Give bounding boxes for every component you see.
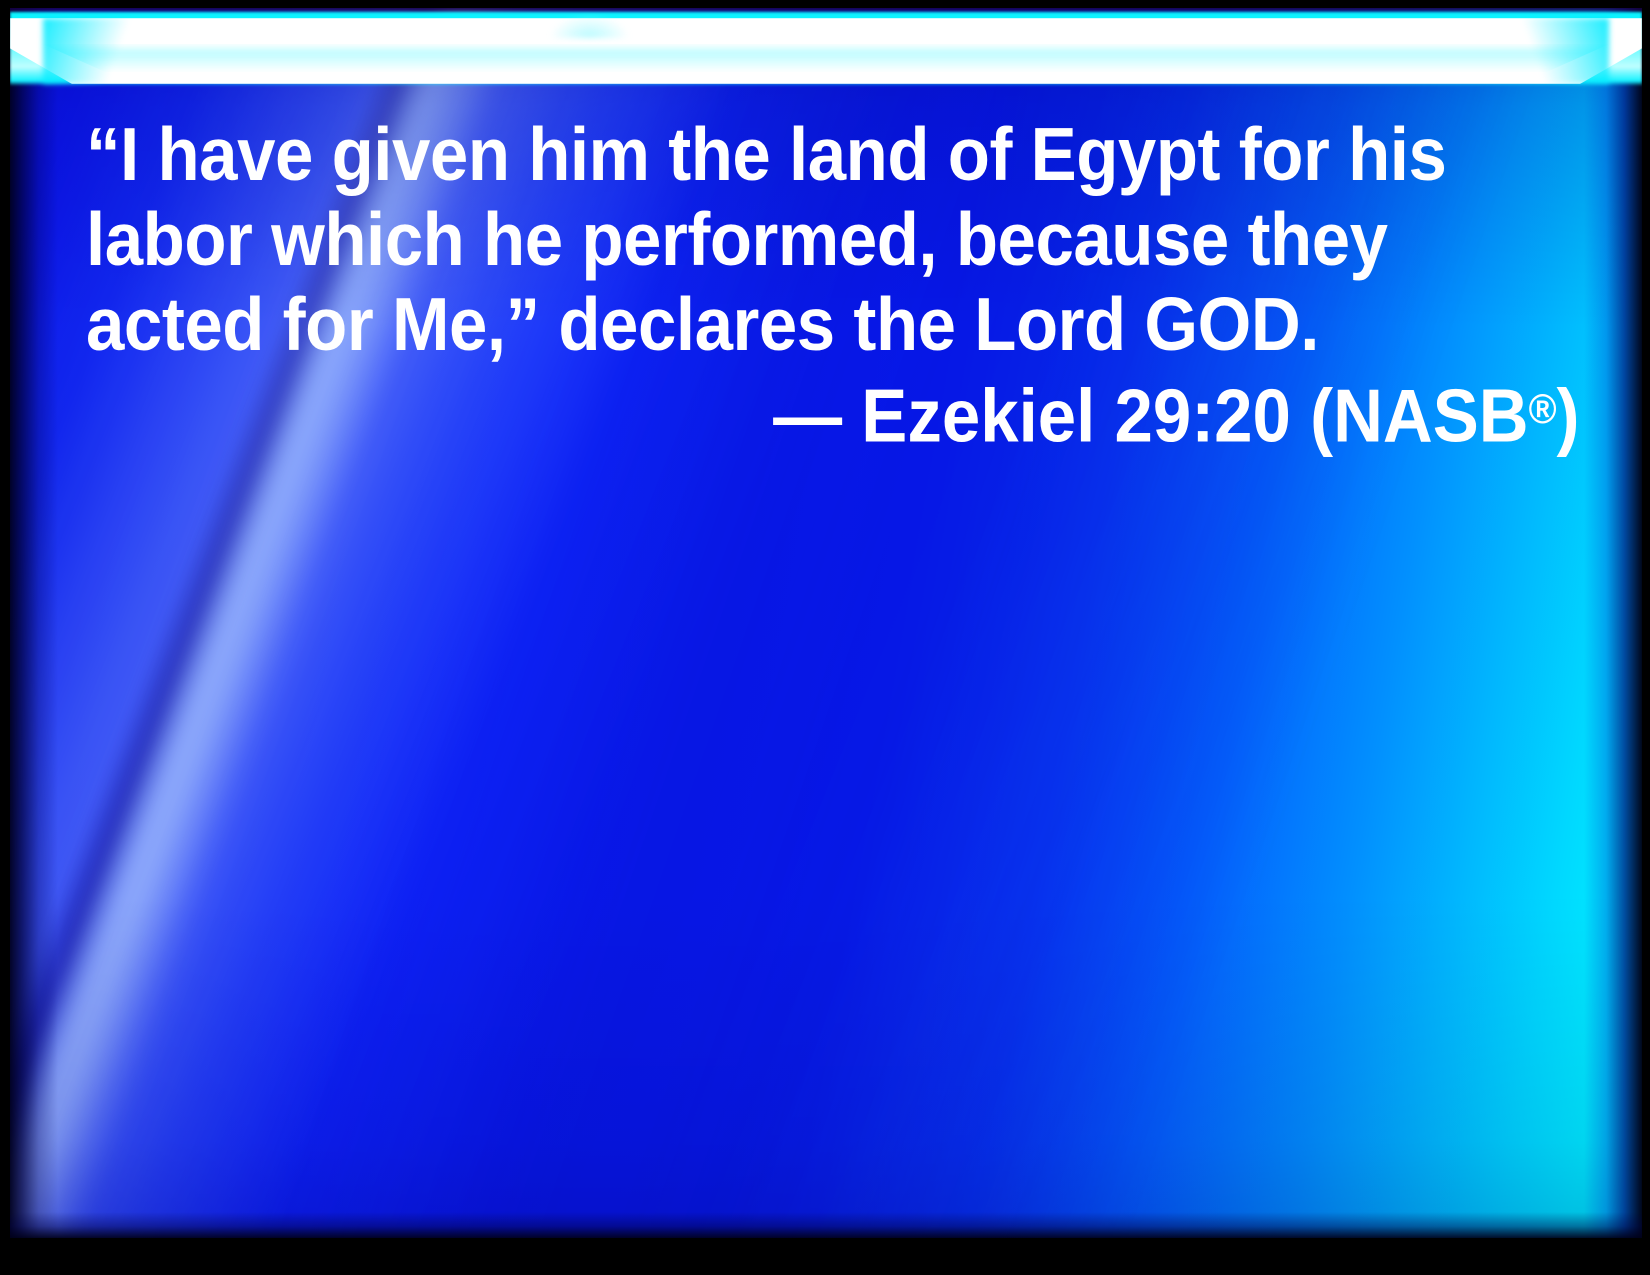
top-bar-left-glow (43, 18, 141, 84)
verse-citation-inner: — Ezekiel 29:20 (NASB®) (774, 367, 1580, 459)
slide-frame: “I have given him the land of Egypt for … (0, 0, 1650, 1275)
citation-suffix: ) (1557, 374, 1580, 458)
verse-citation: — Ezekiel 29:20 (NASB®) (86, 367, 1580, 459)
top-bar-inner-sheen (43, 44, 1610, 72)
verse-line-2: labor which he performed, because they (86, 197, 1457, 282)
edge-vignette-left (10, 8, 58, 1238)
top-bar-right-glow (1511, 18, 1609, 84)
verse-line-1: “I have given him the land of Egypt for … (86, 112, 1457, 197)
top-bar-notch (549, 14, 631, 38)
citation-prefix: — Ezekiel 29:20 (NASB (774, 374, 1529, 458)
slide-canvas: “I have given him the land of Egypt for … (10, 8, 1642, 1238)
edge-vignette-bottom (10, 1212, 1642, 1238)
edge-vignette-right (1584, 8, 1642, 1238)
verse-line-3: acted for Me,” declares the Lord GOD. (86, 282, 1457, 367)
registered-trademark-icon: ® (1529, 386, 1557, 432)
verse-text-block: “I have given him the land of Egypt for … (86, 112, 1576, 367)
